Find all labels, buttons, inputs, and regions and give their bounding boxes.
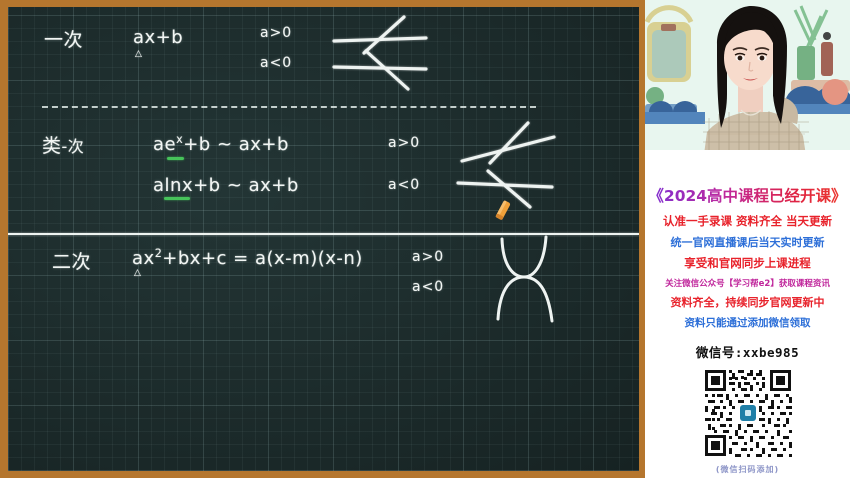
qr-code-wrap [645, 367, 850, 459]
webcam-illustration [645, 0, 850, 162]
row2-formula-exp: aex+b ~ ax+b [153, 133, 289, 155]
row2-underline-exp [167, 157, 184, 160]
row1-condition-negative: a<0 [260, 55, 292, 71]
row1-condition-positive: a>0 [260, 25, 292, 41]
row1-formula: ax+b [133, 27, 183, 48]
row3-formula-post: +bx+c = a(x-m)(x-n) [162, 248, 363, 269]
promo-line-2: 认准一手录课 资料齐全 当天更新 [645, 213, 850, 229]
row2-label: 类-次 [42, 131, 84, 158]
row3-formula-var: x [144, 248, 155, 269]
chalk-piece-icon [494, 199, 518, 225]
side-panel: 《2024高中课程已经开课》 认准一手录课 资料齐全 当天更新 统一官网直播课后… [645, 0, 850, 478]
row2-label-main: 类 [42, 135, 62, 157]
row1-delta-mark: △ [135, 49, 142, 59]
row3-formula: ax2+bx+c = a(x-m)(x-n) [132, 247, 363, 269]
qr-note: (微信扫码添加) [645, 464, 850, 475]
instructor-webcam-tile[interactable] [645, 0, 850, 162]
blackboard-surface: 一次 ax+b △ a>0 a<0 类-次 aex+b ~ ax+b alnx+… [8, 7, 639, 471]
row1-graph-negative [328, 45, 438, 125]
row2-label-rest: -次 [62, 137, 85, 156]
wechat-qr-code[interactable] [702, 367, 794, 459]
promo-line-3: 统一官网直播课后当天实时更新 [645, 234, 850, 250]
row2-formula-exp-post: +b ~ ax+b [183, 134, 289, 155]
wechat-id-label[interactable]: 微信号:xxbe985 [645, 342, 850, 361]
row1-label: 一次 [44, 25, 83, 52]
row2-formula-log: alnx+b ~ ax+b [153, 175, 299, 196]
row2-condition-negative: a<0 [388, 177, 420, 193]
row1-formula-rest: x+b [145, 27, 184, 48]
row3-label: 二次 [52, 247, 91, 274]
row2-condition-positive: a>0 [388, 135, 420, 151]
row3-formula-pre: a [132, 248, 144, 269]
row3-delta-mark: △ [134, 268, 141, 278]
promo-title: 《2024高中课程已经开课》 [645, 184, 850, 206]
promo-line-7: 资料只能通过添加微信领取 [645, 315, 850, 330]
promo-block: 《2024高中课程已经开课》 认准一手录课 资料齐全 当天更新 统一官网直播课后… [645, 162, 850, 478]
row3-condition-positive: a>0 [412, 249, 444, 265]
screen-root: 一次 ax+b △ a>0 a<0 类-次 aex+b ~ ax+b alnx+… [0, 0, 850, 478]
row2-underline-log [164, 197, 190, 200]
promo-line-6: 资料齐全，持续同步官网更新中 [645, 294, 850, 310]
blackboard: 一次 ax+b △ a>0 a<0 类-次 aex+b ~ ax+b alnx+… [0, 0, 645, 478]
row3-condition-negative: a<0 [412, 279, 444, 295]
row1-formula-a: a [133, 27, 145, 48]
row3-graph-parabola-down [492, 271, 582, 331]
row2-formula-exp-pre: ae [153, 134, 176, 155]
promo-line-4: 享受和官网同步上课进程 [645, 255, 850, 271]
qr-code-icon [702, 367, 794, 459]
section-divider-dashed [42, 106, 536, 108]
promo-line-5: 关注微信公众号【学习帮e2】获取课程资讯 [645, 277, 850, 289]
